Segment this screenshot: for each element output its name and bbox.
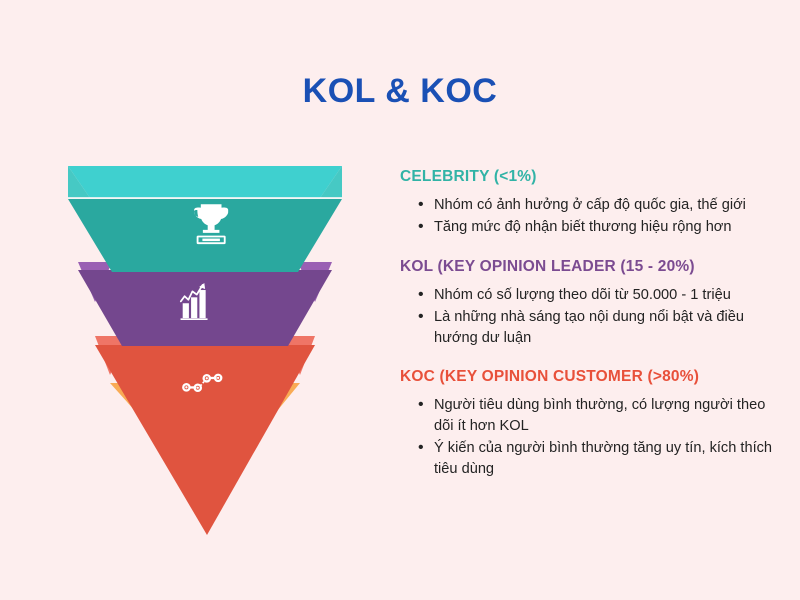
bullet-list-kol: Nhóm có số lượng theo dõi từ 50.000 - 1 … xyxy=(390,285,780,349)
section-kol: KOL (KEY OPINION LEADER (15 - 20%) Nhóm … xyxy=(390,258,780,349)
list-item: Nhóm có số lượng theo dõi từ 50.000 - 1 … xyxy=(434,285,780,306)
section-heading-celebrity: CELEBRITY (<1%) xyxy=(390,168,780,186)
funnel-diagram xyxy=(40,150,370,550)
list-item: Là những nhà sáng tạo nội dung nổi bật v… xyxy=(434,307,780,349)
section-heading-kol: KOL (KEY OPINION LEADER (15 - 20%) xyxy=(390,258,780,276)
section-heading-koc: KOC (KEY OPINION CUSTOMER (>80%) xyxy=(390,368,780,386)
page-title: KOL & KOC xyxy=(0,72,800,111)
list-item: Tăng mức độ nhận biết thương hiệu rộng h… xyxy=(434,217,780,238)
list-item: Nhóm có ảnh hưởng ở cấp độ quốc gia, thế… xyxy=(434,195,780,216)
list-item: Ý kiến của người bình thường tăng uy tín… xyxy=(434,438,780,480)
content-column: CELEBRITY (<1%) Nhóm có ảnh hưởng ở cấp … xyxy=(390,168,780,490)
section-koc: KOC (KEY OPINION CUSTOMER (>80%) Người t… xyxy=(390,368,780,480)
bullet-list-celebrity: Nhóm có ảnh hưởng ở cấp độ quốc gia, thế… xyxy=(390,195,780,238)
koc-layer-body xyxy=(95,345,315,535)
celebrity-top-face xyxy=(68,166,342,198)
infographic-page: KOL & KOC xyxy=(0,0,800,600)
bullet-list-koc: Người tiêu dùng bình thường, có lượng ng… xyxy=(390,395,780,480)
section-celebrity: CELEBRITY (<1%) Nhóm có ảnh hưởng ở cấp … xyxy=(390,168,780,238)
list-item: Người tiêu dùng bình thường, có lượng ng… xyxy=(434,395,780,437)
